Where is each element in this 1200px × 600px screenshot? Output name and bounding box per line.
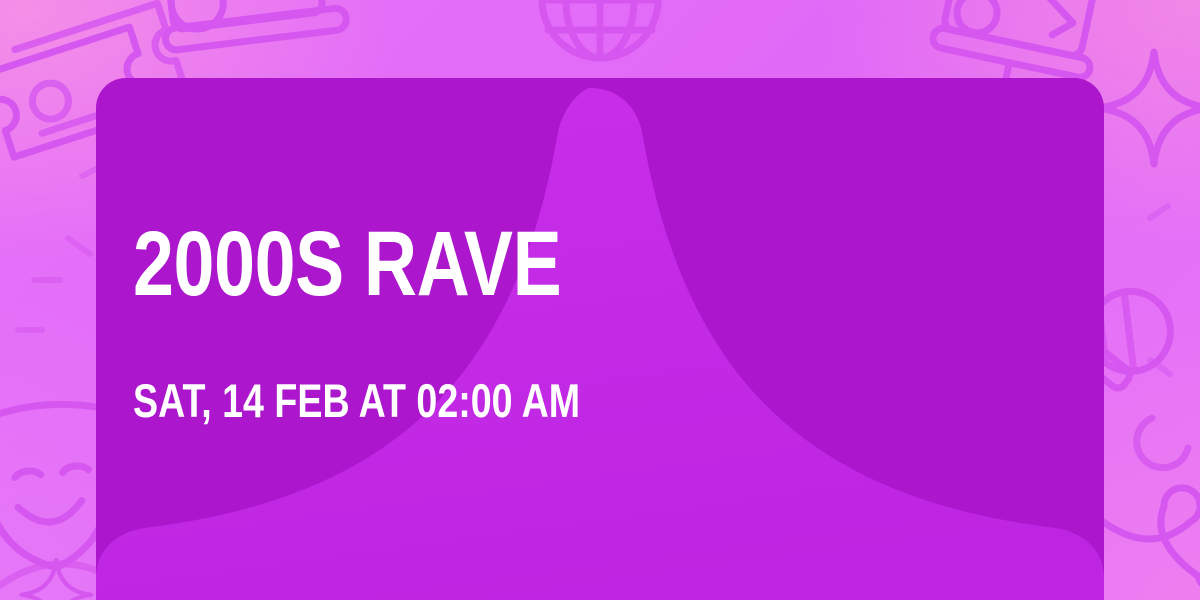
disco-globe-icon xyxy=(542,0,658,58)
dj-turntable-icon xyxy=(154,0,347,51)
event-date-time: SAT, 14 FEB AT 02:00 AM xyxy=(133,377,581,424)
event-title: 2000S RAVE xyxy=(133,220,581,308)
sparkle-star-icon xyxy=(1098,52,1200,164)
event-banner: 2000S RAVE SAT, 14 FEB AT 02:00 AM xyxy=(0,0,1200,600)
event-card[interactable]: 2000S RAVE SAT, 14 FEB AT 02:00 AM xyxy=(96,78,1104,600)
event-card-text: 2000S RAVE SAT, 14 FEB AT 02:00 AM xyxy=(133,78,693,600)
